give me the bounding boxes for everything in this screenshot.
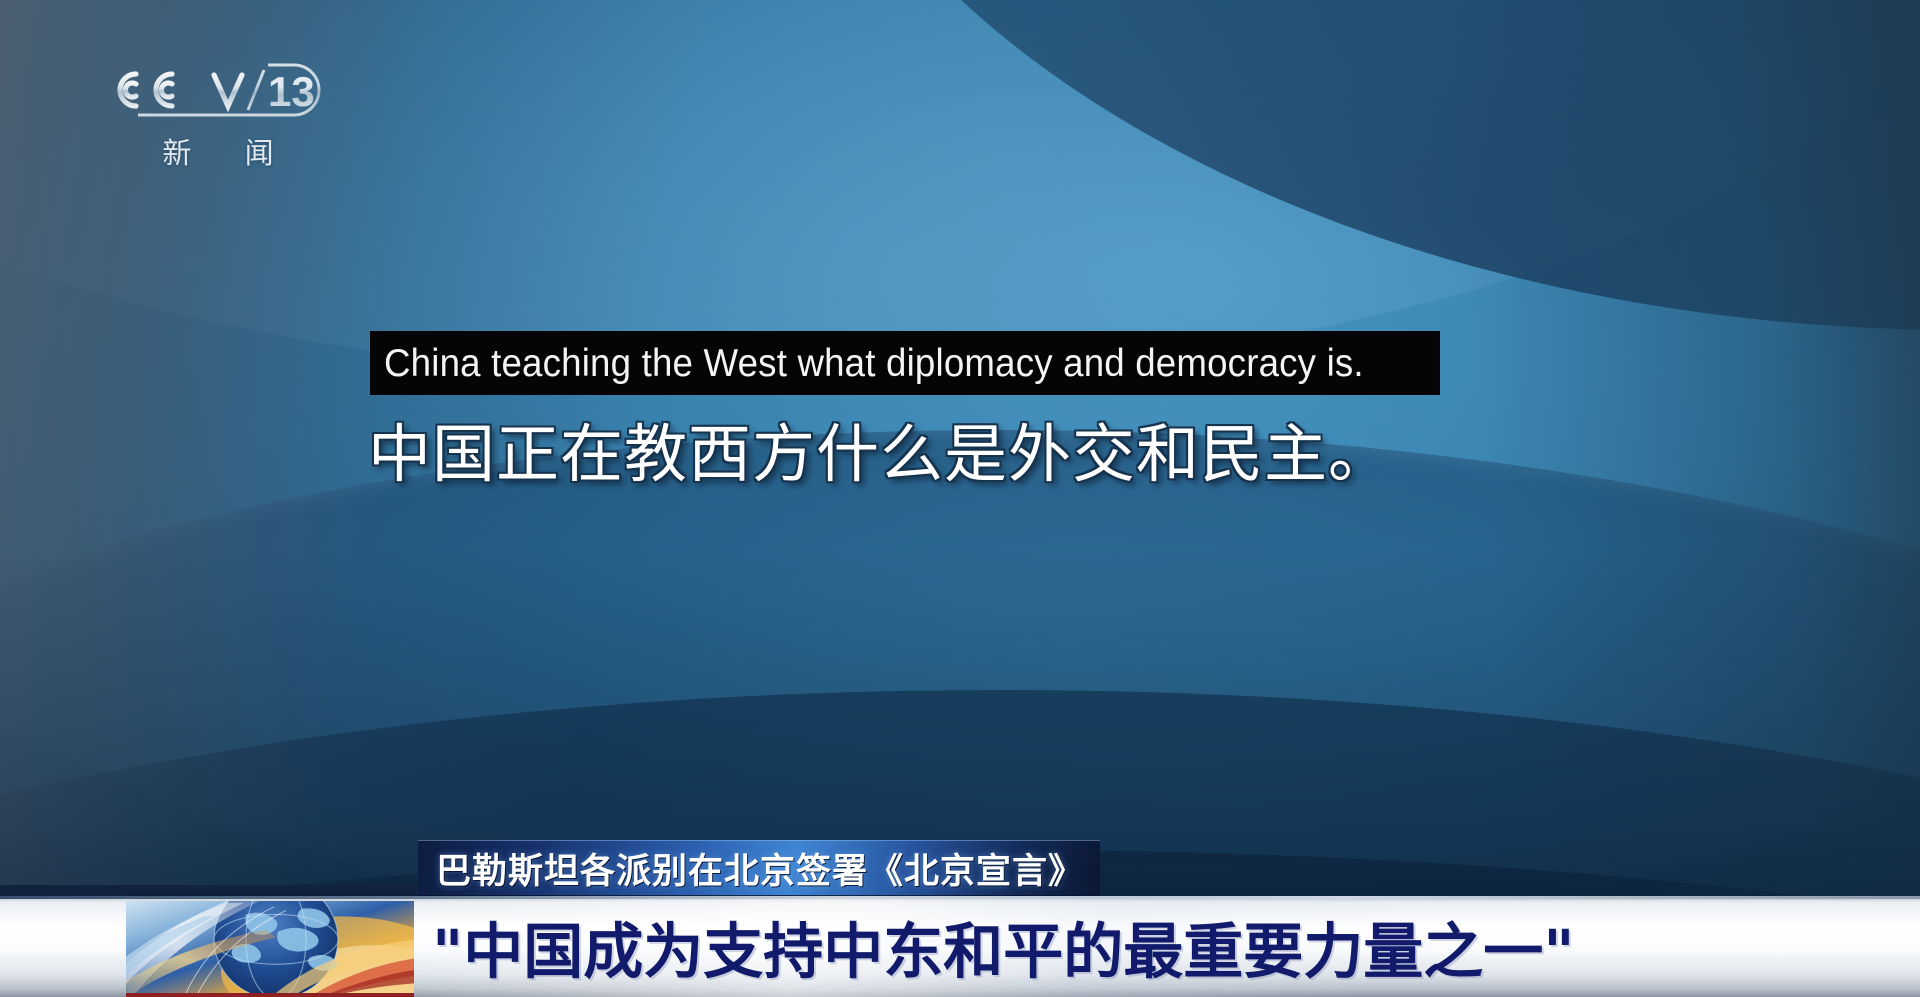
lower-third-headline-text: "中国成为支持中东和平的最重要力量之一"	[432, 903, 1575, 990]
channel-logo-subtitle: 新 闻	[108, 130, 328, 172]
globe-icon	[126, 901, 414, 993]
chinese-caption-text: 中国正在教西方什么是外交和民主。	[368, 420, 1392, 491]
channel-logo: 13 新 闻	[108, 56, 328, 166]
english-caption-text: China teaching the West what diplomacy a…	[384, 344, 1364, 383]
lower-third-sub-banner-text: 巴勒斯坦各派别在北京签署《北京宣言》	[436, 843, 1084, 894]
english-caption-bar: China teaching the West what diplomacy a…	[370, 331, 1440, 395]
lower-third-sub-banner: 巴勒斯坦各派别在北京签署《北京宣言》	[418, 840, 1100, 896]
cctv13-logo-icon: 13	[108, 56, 328, 128]
globe-graphic	[126, 901, 414, 997]
svg-text:13: 13	[268, 68, 315, 115]
broadcast-screen: 13 新 闻 China teaching the West what dipl…	[0, 0, 1920, 997]
